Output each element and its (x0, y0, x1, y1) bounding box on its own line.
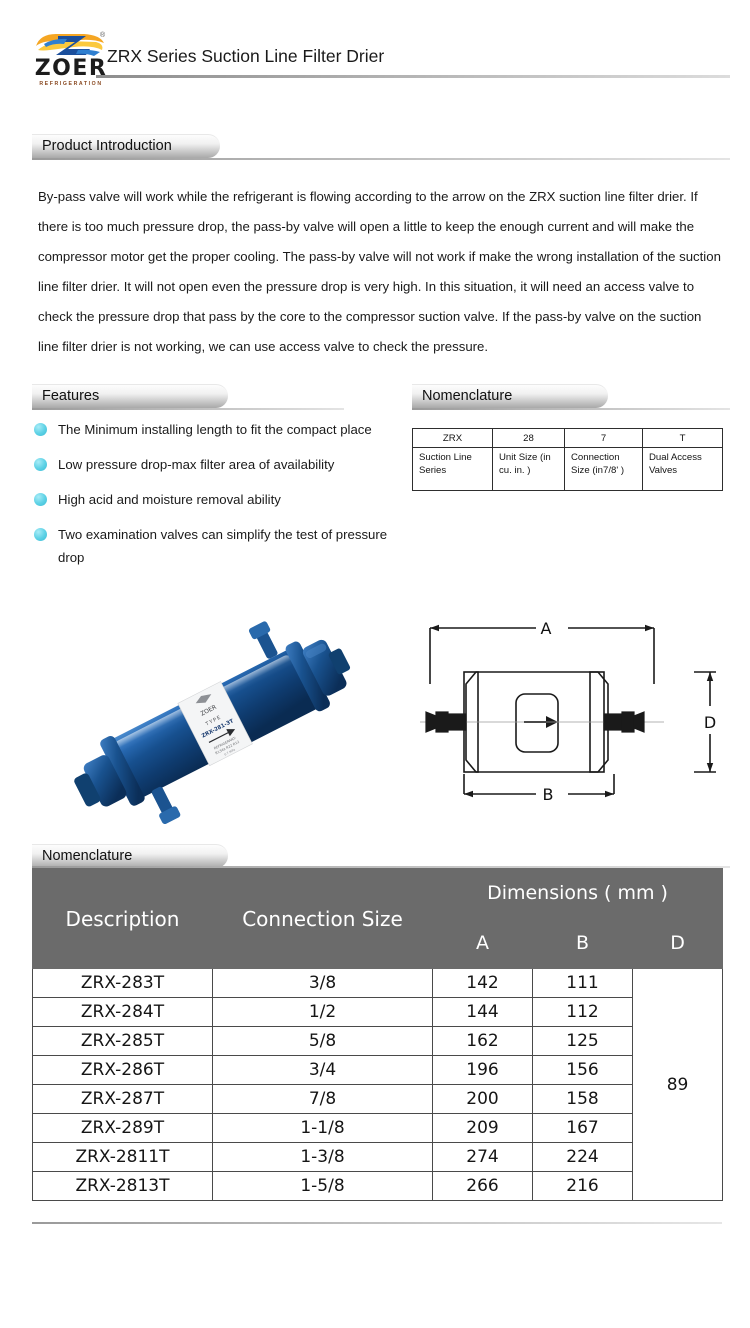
table-header-row: Description Connection Size Dimensions (… (33, 869, 723, 917)
cell-description: ZRX-286T (33, 1056, 213, 1085)
cell-dimension-a: 144 (433, 998, 533, 1027)
list-item: The Minimum installing length to fit the… (32, 418, 392, 441)
table-row: ZRX-289T 1-1/8 209 167 (33, 1114, 723, 1143)
features-list: The Minimum installing length to fit the… (32, 418, 392, 581)
section-divider-features (32, 408, 344, 410)
section-tab-label: Nomenclature (422, 388, 512, 404)
nom-desc-cell: Connection Size (in7/8' ) (565, 448, 643, 491)
cell-connection-size: 1-5/8 (213, 1172, 433, 1201)
cell-dimension-a: 209 (433, 1114, 533, 1143)
table-row: ZRX-2813T 1-5/8 266 216 (33, 1172, 723, 1201)
cell-description: ZRX-285T (33, 1027, 213, 1056)
cell-description: ZRX-283T (33, 969, 213, 998)
nom-desc-cell: Unit Size (in cu. in. ) (493, 448, 565, 491)
feature-text: Two examination valves can simplify the … (58, 527, 387, 565)
cell-description: ZRX-284T (33, 998, 213, 1027)
nom-code-cell: 7 (565, 429, 643, 448)
column-header-description: Description (33, 869, 213, 969)
header-divider (96, 75, 730, 78)
cell-description: ZRX-287T (33, 1085, 213, 1114)
cell-dimension-b: 158 (533, 1085, 633, 1114)
bullet-icon (34, 493, 47, 506)
column-header-dimensions: Dimensions ( mm ) (433, 869, 723, 917)
cell-dimension-b: 167 (533, 1114, 633, 1143)
cell-dimension-a: 200 (433, 1085, 533, 1114)
logo-tagline: REFRIGERATION (30, 81, 112, 87)
table-row: ZRX-285T 5/8 162 125 (33, 1027, 723, 1056)
feature-text: Low pressure drop-max filter area of ava… (58, 457, 334, 472)
column-header-a: A (433, 917, 533, 969)
dimension-label-d: D (704, 713, 716, 732)
table-row: Suction Line Series Unit Size (in cu. in… (413, 448, 723, 491)
list-item: Low pressure drop-max filter area of ava… (32, 453, 392, 476)
cell-connection-size: 7/8 (213, 1085, 433, 1114)
cell-description: ZRX-2811T (33, 1143, 213, 1172)
cell-dimension-b: 111 (533, 969, 633, 998)
cell-dimension-a: 142 (433, 969, 533, 998)
section-divider-nomenclature-key (412, 408, 730, 410)
cell-connection-size: 3/4 (213, 1056, 433, 1085)
nom-desc-cell: Suction Line Series (413, 448, 493, 491)
table-row: ZRX 28 7 T (413, 429, 723, 448)
cell-connection-size: 1-1/8 (213, 1114, 433, 1143)
cell-description: ZRX-2813T (33, 1172, 213, 1201)
registered-trademark-icon: ® (100, 32, 105, 39)
section-tab-label: Product Introduction (42, 138, 172, 154)
cell-dimension-a: 274 (433, 1143, 533, 1172)
nom-code-cell: ZRX (413, 429, 493, 448)
cell-dimension-b: 112 (533, 998, 633, 1027)
column-header-connection-size: Connection Size (213, 869, 433, 969)
nom-code-cell: 28 (493, 429, 565, 448)
list-item: High acid and moisture removal ability (32, 488, 392, 511)
feature-text: The Minimum installing length to fit the… (58, 422, 372, 437)
cell-description: ZRX-289T (33, 1114, 213, 1143)
column-header-b: B (533, 917, 633, 969)
nom-code-cell: T (643, 429, 723, 448)
cell-dimension-b: 224 (533, 1143, 633, 1172)
table-row: ZRX-2811T 1-3/8 274 224 (33, 1143, 723, 1172)
table-row: ZRX-284T 1/2 144 112 (33, 998, 723, 1027)
section-divider-product-introduction (32, 158, 730, 160)
cell-dimension-a: 162 (433, 1027, 533, 1056)
cell-dimension-a: 266 (433, 1172, 533, 1201)
section-tab-label: Nomenclature (42, 848, 132, 864)
column-header-d: D (633, 917, 723, 969)
cell-dimension-b: 156 (533, 1056, 633, 1085)
table-bottom-divider (32, 1222, 722, 1224)
bullet-icon (34, 458, 47, 471)
cell-dimension-d-merged: 89 (633, 969, 723, 1201)
cell-dimension-b: 125 (533, 1027, 633, 1056)
product-introduction-body: By-pass valve will work while the refrig… (38, 182, 724, 362)
cell-connection-size: 3/8 (213, 969, 433, 998)
specifications-table: Description Connection Size Dimensions (… (32, 868, 723, 1201)
section-tab-nomenclature-key: Nomenclature (412, 384, 608, 408)
nomenclature-key-table: ZRX 28 7 T Suction Line Series Unit Size… (412, 428, 723, 491)
section-tab-nomenclature-table: Nomenclature (32, 844, 228, 868)
table-row: ZRX-286T 3/4 196 156 (33, 1056, 723, 1085)
brand-logo: ® ZOER REFRIGERATION (30, 30, 112, 92)
technical-drawing: A B D (408, 606, 732, 834)
page-header: ® ZOER REFRIGERATION ZRX Series Suction … (0, 0, 750, 108)
table-row: ZRX-287T 7/8 200 158 (33, 1085, 723, 1114)
page-title: ZRX Series Suction Line Filter Drier (107, 46, 384, 67)
dimension-label-b: B (543, 785, 554, 804)
cell-dimension-b: 216 (533, 1172, 633, 1201)
list-item: Two examination valves can simplify the … (32, 523, 392, 569)
section-tab-product-introduction: Product Introduction (32, 134, 220, 158)
bullet-icon (34, 528, 47, 541)
dimension-label-a: A (541, 619, 552, 638)
cell-connection-size: 5/8 (213, 1027, 433, 1056)
product-photo: ZOER TYPE ZRX-281-3T REFRIGERANT: R134a … (40, 602, 400, 838)
cell-dimension-a: 196 (433, 1056, 533, 1085)
section-tab-label: Features (42, 388, 99, 404)
table-row: ZRX-283T 3/8 142 111 89 (33, 969, 723, 998)
cell-connection-size: 1/2 (213, 998, 433, 1027)
bullet-icon (34, 423, 47, 436)
feature-text: High acid and moisture removal ability (58, 492, 281, 507)
cell-connection-size: 1-3/8 (213, 1143, 433, 1172)
section-tab-features: Features (32, 384, 228, 408)
nom-desc-cell: Dual Access Valves (643, 448, 723, 491)
